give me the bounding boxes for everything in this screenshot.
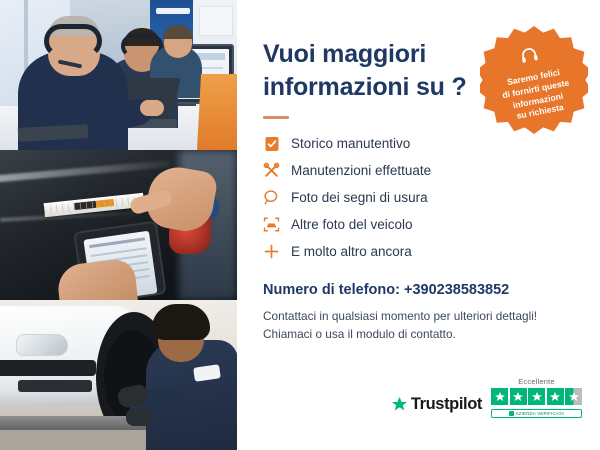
- star-filled: [510, 388, 527, 405]
- mechanic-glove-2: [126, 408, 152, 426]
- mechanic-wheel-inspection-photo: [0, 300, 237, 450]
- list-item-label: Manutenzioni effettuate: [291, 163, 431, 178]
- page-title: Vuoi maggiori informazioni su ?: [263, 38, 478, 104]
- photo-column: [0, 0, 237, 450]
- list-item: E molto altro ancora: [263, 243, 582, 260]
- orange-object: [197, 74, 237, 150]
- trustpilot-star-icon: [391, 396, 408, 413]
- list-item-label: Storico manutentivo: [291, 136, 410, 151]
- checklist-icon: [263, 135, 280, 152]
- list-item-label: Foto dei segni di usura: [291, 190, 428, 205]
- starburst-badge: Saremo felici di fornirti queste informa…: [480, 26, 588, 134]
- headline-line-2: informazioni su ?: [263, 73, 467, 101]
- list-item: Storico manutentivo: [263, 135, 582, 152]
- trustpilot-wordmark: Trustpilot: [411, 395, 482, 414]
- star-filled: [528, 388, 545, 405]
- list-item: Manutenzioni effettuate: [263, 162, 582, 179]
- agent-1-headset-icon: [44, 24, 102, 58]
- promo-banner: Vuoi maggiori informazioni su ? Storico …: [0, 0, 600, 450]
- list-item: Foto dei segni di usura: [263, 189, 582, 206]
- call-center-agents-headset-photo: [0, 0, 237, 150]
- title-divider: [263, 116, 289, 119]
- list-item: Altre foto del veicolo: [263, 216, 582, 233]
- agent-1-hand: [140, 100, 164, 116]
- trustpilot-logo: Trustpilot: [391, 395, 482, 418]
- magnifier-icon: [263, 189, 280, 206]
- trustpilot-verified-badge: AZIENDA VERIFICATA: [491, 409, 582, 418]
- star-half: [565, 388, 582, 405]
- phone-line: Numero di telefono: +390238583852: [263, 282, 582, 298]
- trustpilot-widget[interactable]: Trustpilot Eccellente: [391, 377, 582, 418]
- car-frame-icon: [263, 216, 280, 233]
- feature-list: Storico manutentivo Manutenzioni effettu…: [263, 135, 582, 260]
- trustpilot-rating: Eccellente: [491, 377, 582, 418]
- list-item-label: Altre foto del veicolo: [291, 217, 413, 232]
- lower-grille: [18, 380, 92, 392]
- subtext-line-1: Contattaci in qualsiasi momento per ulte…: [263, 307, 582, 325]
- tools-cross-icon: [263, 162, 280, 179]
- phone-number[interactable]: +390238583852: [404, 282, 509, 298]
- badge-text: Saremo felici di fornirti queste informa…: [490, 64, 583, 127]
- headline-line-1: Vuoi maggiori: [263, 40, 426, 68]
- subtext-line-2: Chiamaci o usa il modulo di contatto.: [263, 325, 582, 343]
- headset-icon: [517, 44, 541, 72]
- ruler-brand-label: [74, 199, 115, 210]
- verified-check-icon: [509, 411, 514, 416]
- contact-subtext: Contattaci in qualsiasi momento per ulte…: [263, 307, 582, 344]
- front-grille: [0, 360, 96, 376]
- star-filled: [547, 388, 564, 405]
- wall-poster: [199, 6, 233, 36]
- content-panel: Vuoi maggiori informazioni su ? Storico …: [237, 0, 600, 450]
- trustpilot-rating-label: Eccellente: [518, 377, 555, 386]
- mechanic-hair: [152, 304, 210, 340]
- list-item-label: E molto altro ancora: [291, 244, 412, 259]
- verified-label: AZIENDA VERIFICATA: [516, 411, 565, 416]
- star-filled: [491, 388, 508, 405]
- vehicle-inspection-ruler-phone-photo: [0, 150, 237, 300]
- trustpilot-stars: [491, 388, 582, 405]
- headlight: [16, 334, 68, 356]
- phone-label: Numero di telefono:: [263, 282, 400, 298]
- badge-content: Saremo felici di fornirti queste informa…: [471, 17, 598, 144]
- plus-icon: [263, 243, 280, 260]
